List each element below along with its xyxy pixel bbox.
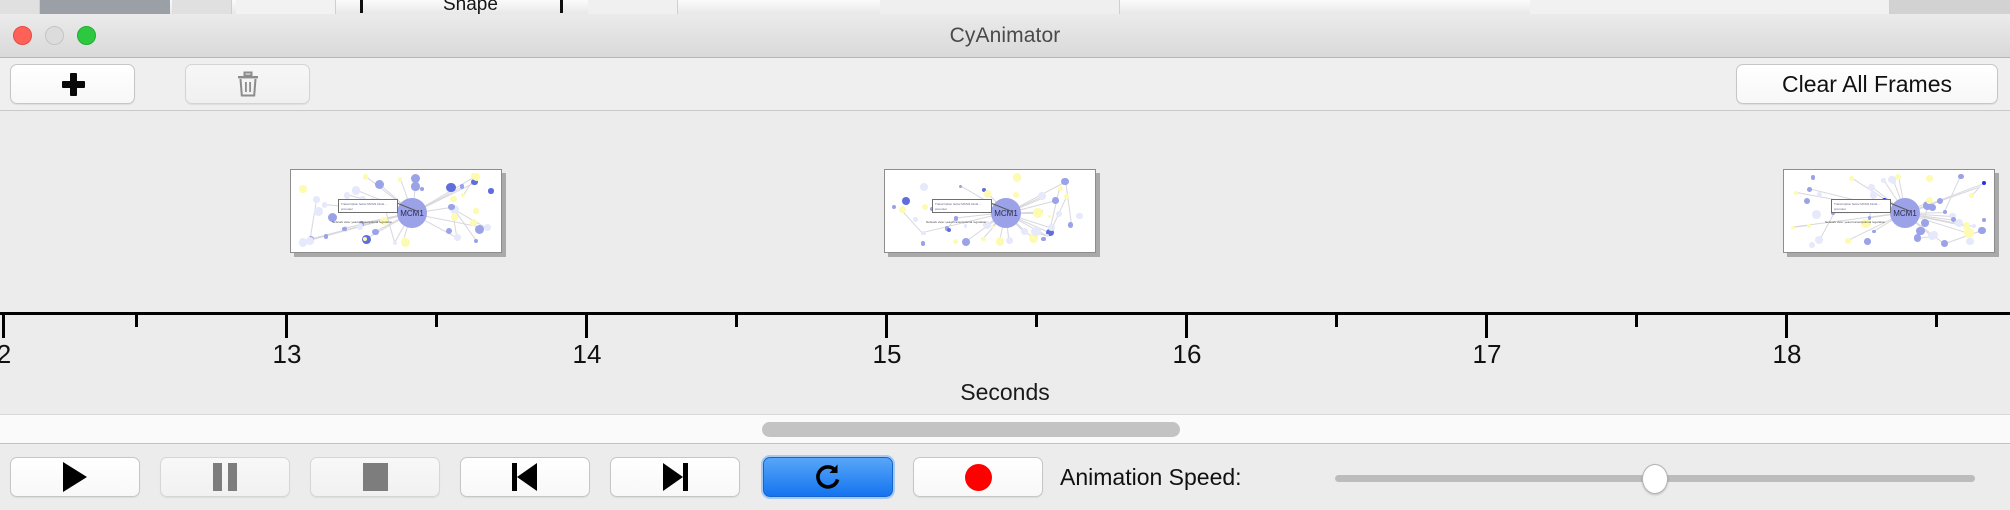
network-node xyxy=(484,224,491,231)
axis-tick-major xyxy=(1785,315,1788,338)
close-button[interactable] xyxy=(13,26,32,45)
network-node xyxy=(1926,175,1933,182)
network-node xyxy=(1977,185,1981,189)
network-node xyxy=(446,228,452,234)
axis-caption: Seconds xyxy=(0,379,2010,406)
network-node xyxy=(1058,186,1063,191)
network-node xyxy=(892,205,896,209)
window-title: CyAnimator xyxy=(950,24,1061,48)
slider-thumb[interactable] xyxy=(1642,464,1668,494)
axis-tick-label: 15 xyxy=(873,339,902,370)
network-node xyxy=(1006,237,1013,244)
add-frame-button[interactable] xyxy=(10,64,135,104)
skip-to-start-button[interactable] xyxy=(460,457,590,497)
network-node xyxy=(1941,240,1948,247)
timeline-panel[interactable]: MCM1Transcription factor MCM1 binds ... … xyxy=(0,110,2010,414)
network-node xyxy=(372,229,379,236)
axis-tick-label: 18 xyxy=(1773,339,1802,370)
network-edge xyxy=(309,200,317,241)
network-node xyxy=(393,241,397,245)
network-node xyxy=(1033,208,1042,217)
skip-to-end-button[interactable] xyxy=(610,457,740,497)
background-app-strip: Shape xyxy=(0,0,2010,14)
network-node xyxy=(981,237,985,241)
axis-tick-minor xyxy=(1335,315,1338,327)
network-node xyxy=(902,197,910,205)
delete-frame-button[interactable] xyxy=(185,64,310,104)
network-node xyxy=(1895,174,1901,180)
timeline-frame[interactable]: MCM1Transcription factor MCM1 binds ... … xyxy=(884,169,1096,253)
axis-tick-label: 17 xyxy=(1473,339,1502,370)
network-node xyxy=(1056,211,1062,217)
frame-network-thumbnail: MCM1Transcription factor MCM1 binds ... … xyxy=(1787,173,1991,249)
network-node xyxy=(488,188,494,194)
record-dot-icon xyxy=(965,464,992,491)
network-node xyxy=(1031,227,1040,236)
network-node xyxy=(996,237,1005,246)
network-node xyxy=(375,180,384,189)
network-callout: Transcription factor MCM1 binds ... prom… xyxy=(338,199,398,213)
network-node xyxy=(411,182,419,190)
axis-tick-minor xyxy=(1035,315,1038,327)
network-node xyxy=(1076,213,1082,219)
network-node xyxy=(342,227,347,232)
network-node xyxy=(313,196,320,203)
axis-tick-major xyxy=(585,315,588,338)
network-node xyxy=(1929,204,1936,211)
axis-tick-minor xyxy=(735,315,738,327)
network-node xyxy=(344,192,351,199)
timeline-scrollbar[interactable] xyxy=(0,414,2010,444)
axis-tick-minor xyxy=(135,315,138,327)
network-node xyxy=(299,185,306,192)
network-node xyxy=(1845,238,1851,244)
network-node xyxy=(451,213,459,221)
network-node xyxy=(962,238,970,246)
network-node xyxy=(1046,234,1049,237)
network-node xyxy=(1041,237,1045,241)
axis-tick-major xyxy=(285,315,288,338)
window-controls[interactable] xyxy=(13,26,96,45)
network-hub-node: MCM1 xyxy=(397,198,427,228)
network-node xyxy=(460,184,464,188)
network-node xyxy=(920,183,929,192)
network-node xyxy=(1888,176,1895,183)
network-node xyxy=(1068,222,1074,228)
network-node xyxy=(913,217,918,222)
network-node xyxy=(1013,192,1019,198)
stop-icon xyxy=(363,463,388,491)
network-node xyxy=(1021,228,1028,235)
axis-tick-label: 14 xyxy=(573,339,602,370)
network-node xyxy=(1972,224,1976,228)
plus-icon xyxy=(61,72,85,96)
frame-toolbar: Clear All Frames xyxy=(0,58,2010,110)
play-icon xyxy=(63,462,87,492)
network-hub-node: MCM1 xyxy=(1890,198,1920,228)
network-node xyxy=(448,204,455,211)
scrollbar-thumb[interactable] xyxy=(762,422,1180,437)
network-node xyxy=(1978,227,1986,235)
network-caption: Network view: yeast transcriptional regu… xyxy=(332,220,392,224)
network-caption: Network view: yeast transcriptional regu… xyxy=(926,220,986,224)
trash-icon xyxy=(235,69,261,99)
axis-tick-label: 13 xyxy=(273,339,302,370)
record-button[interactable] xyxy=(913,457,1043,497)
network-node xyxy=(1966,238,1973,245)
network-node xyxy=(1958,174,1963,179)
network-node xyxy=(1849,176,1854,181)
zoom-button[interactable] xyxy=(77,26,96,45)
network-node xyxy=(1872,230,1876,234)
network-node xyxy=(921,241,925,245)
network-node xyxy=(461,193,465,197)
network-node xyxy=(1794,191,1798,195)
network-node xyxy=(1807,187,1812,192)
network-node xyxy=(473,173,481,181)
network-callout: Transcription factor MCM1 binds ... prom… xyxy=(932,199,992,213)
network-caption: Network view: yeast transcriptional regu… xyxy=(1825,220,1885,224)
network-node xyxy=(1982,218,1986,222)
network-node xyxy=(401,238,410,247)
network-node xyxy=(1969,193,1974,198)
stop-button[interactable] xyxy=(310,457,440,497)
network-node xyxy=(1061,178,1068,185)
network-node xyxy=(922,204,928,210)
pause-icon xyxy=(213,463,237,491)
cyanimator-window: Shape CyAnimator Clear All Frames xyxy=(0,0,2010,510)
timeline-axis xyxy=(0,312,2010,315)
axis-tick-minor xyxy=(435,315,438,327)
network-node xyxy=(1937,198,1943,204)
clear-all-frames-button[interactable]: Clear All Frames xyxy=(1736,64,1998,104)
axis-tick-label: 2 xyxy=(0,339,11,370)
network-node xyxy=(306,237,314,245)
network-node xyxy=(1914,234,1922,242)
axis-tick-major xyxy=(1185,315,1188,338)
background-app-word: Shape xyxy=(443,0,498,14)
axis-tick-major xyxy=(885,315,888,338)
network-node xyxy=(450,196,457,203)
network-node xyxy=(1048,215,1052,219)
animation-speed-slider[interactable] xyxy=(1335,462,1975,492)
network-edge xyxy=(1065,182,1072,225)
network-node xyxy=(420,187,424,191)
network-node xyxy=(1815,236,1823,244)
skip-forward-icon xyxy=(662,463,688,491)
frame-network-thumbnail: MCM1Transcription factor MCM1 binds ... … xyxy=(294,173,498,249)
axis-tick-major xyxy=(2,315,5,338)
network-node xyxy=(352,186,360,194)
network-node xyxy=(921,231,925,235)
axis-tick-major xyxy=(1485,315,1488,338)
network-node xyxy=(1963,222,1971,230)
playback-controls: Animation Speed: xyxy=(0,444,2010,510)
play-button[interactable] xyxy=(10,457,140,497)
network-node xyxy=(474,239,478,243)
axis-tick-minor xyxy=(1635,315,1638,327)
network-node xyxy=(411,174,420,183)
network-node xyxy=(398,177,403,182)
network-node xyxy=(322,202,327,207)
title-bar: CyAnimator xyxy=(0,14,2010,58)
network-node xyxy=(947,228,952,233)
network-node xyxy=(473,208,478,213)
network-callout: Transcription factor MCM1 binds ... prom… xyxy=(1831,199,1891,213)
network-node xyxy=(1048,224,1055,231)
network-node xyxy=(454,234,461,241)
network-node xyxy=(1809,242,1816,249)
network-node xyxy=(475,225,484,234)
frame-network-thumbnail: MCM1Transcription factor MCM1 binds ... … xyxy=(888,173,1092,249)
timeline-frame[interactable]: MCM1Transcription factor MCM1 binds ... … xyxy=(290,169,502,253)
network-node xyxy=(1013,173,1022,182)
axis-tick-label: 16 xyxy=(1173,339,1202,370)
network-node xyxy=(1870,191,1877,198)
axis-tick-minor xyxy=(1935,315,1938,327)
network-node xyxy=(1791,226,1795,230)
network-node xyxy=(1921,219,1929,227)
network-node xyxy=(1943,210,1947,214)
network-node xyxy=(1982,181,1986,185)
network-node xyxy=(991,225,994,228)
skip-back-icon xyxy=(512,463,538,491)
network-node xyxy=(446,183,455,192)
timeline-frame[interactable]: MCM1Transcription factor MCM1 binds ... … xyxy=(1783,169,1995,253)
network-node xyxy=(1812,210,1821,219)
network-node xyxy=(1926,197,1933,204)
loop-refresh-icon xyxy=(813,462,843,492)
network-node xyxy=(1955,219,1963,227)
network-node xyxy=(984,190,992,198)
network-node xyxy=(314,207,323,216)
network-node xyxy=(1804,198,1810,204)
network-hub-node: MCM1 xyxy=(991,198,1021,228)
network-node xyxy=(1864,238,1871,245)
network-node xyxy=(1811,175,1815,179)
network-node xyxy=(1928,232,1936,240)
network-node xyxy=(964,224,967,227)
minimize-button[interactable] xyxy=(45,26,64,45)
network-node xyxy=(1052,197,1059,204)
network-node xyxy=(953,239,958,244)
network-node xyxy=(324,234,329,239)
loop-button[interactable] xyxy=(763,457,893,497)
animation-speed-label: Animation Speed: xyxy=(1060,464,1242,491)
network-node xyxy=(1807,224,1811,228)
network-edge xyxy=(902,210,924,234)
pause-button[interactable] xyxy=(160,457,290,497)
